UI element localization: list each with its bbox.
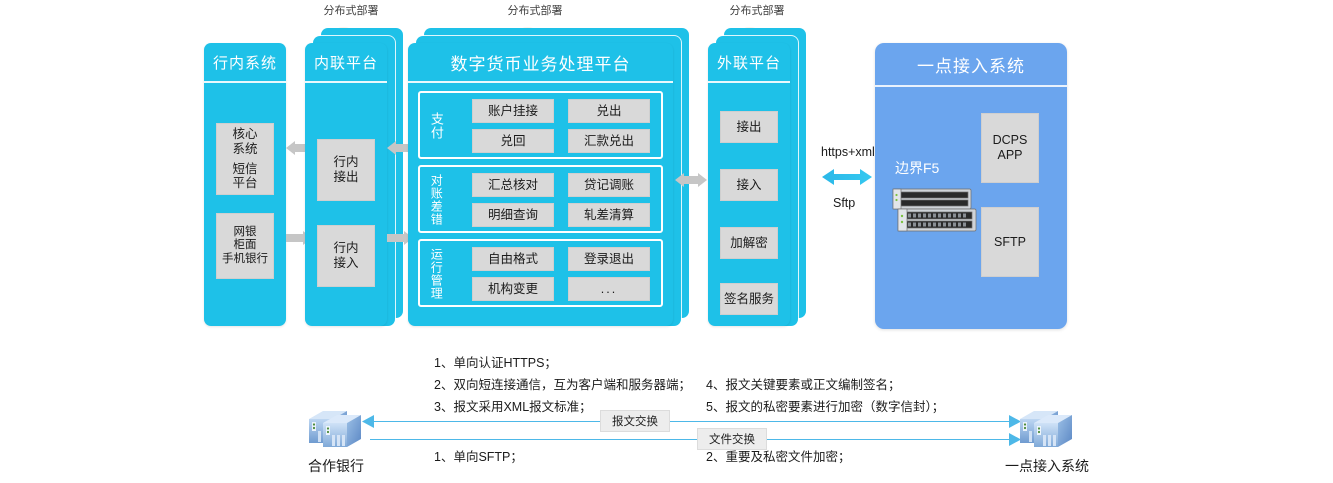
group-label-operation-management: 运行管理 (426, 243, 446, 305)
f5-switch-icon (890, 185, 982, 237)
panel-bank-internal-system[interactable]: 行内系统 核心 系统 短信 平台 网银 柜面 手机银行 (204, 43, 286, 326)
panel-dcep-platform[interactable]: 数字货币业务处理平台 支付 账户挂接 兑出 兑回 汇款兑出 对账差错 汇总核对 … (408, 43, 673, 326)
chip-more[interactable]: ... (568, 277, 650, 301)
chip-sftp[interactable]: SFTP (981, 207, 1039, 277)
note-lower-right-2: 2、重要及私密文件加密； (706, 447, 850, 467)
chip-line: 平台 (232, 176, 257, 191)
group-payment: 支付 账户挂接 兑出 兑回 汇款兑出 (418, 91, 663, 159)
chip-line: 短信 (232, 162, 257, 177)
chip-line: APP (997, 148, 1022, 163)
architecture-diagram: 分布式部署 分布式部署 分布式部署 行内系统 核心 系统 短信 平台 网银 (0, 0, 1333, 483)
chip-dcps-app[interactable]: DCPS APP (981, 113, 1039, 183)
server-icon-partner-bank (303, 405, 367, 451)
chip-line: 接入 (333, 256, 358, 271)
panel-title-dcep-platform: 数字货币业务处理平台 (408, 43, 673, 83)
note-lower-left-1: 1、单向SFTP； (434, 447, 523, 467)
chip-line: 行内 (333, 155, 358, 170)
chip-account-link[interactable]: 账户挂接 (472, 99, 554, 123)
arrow-double-dcep-external (675, 173, 707, 187)
connection-line-message-exchange (370, 421, 1013, 422)
chip-institution-change[interactable]: 机构变更 (472, 277, 554, 301)
chip-line: 手机银行 (222, 253, 268, 267)
note-left-2: 2、双向短连接通信，互为客户端和服务器端； (434, 375, 691, 395)
chip-line: 系统 (232, 142, 257, 157)
chip-intranet-inbound[interactable]: 行内 接入 (317, 225, 375, 287)
note-right-4: 4、报文关键要素或正文编制签名； (706, 375, 900, 395)
chip-exchange-back[interactable]: 兑回 (472, 129, 554, 153)
chip-signature-service[interactable]: 签名服务 (720, 283, 778, 315)
chip-login-logout[interactable]: 登录退出 (568, 247, 650, 271)
chip-core-system[interactable]: 核心 系统 短信 平台 (216, 123, 274, 195)
note-right-5: 5、报文的私密要素进行加密（数字信封）； (706, 397, 944, 417)
panel-title-intranet-platform: 内联平台 (305, 43, 387, 83)
group-operation-management: 运行管理 自由格式 登录退出 机构变更 ... (418, 239, 663, 307)
chip-external-outbound[interactable]: 接出 (720, 111, 778, 143)
chip-line: 网银 (234, 226, 257, 240)
chip-free-format[interactable]: 自由格式 (472, 247, 554, 271)
arrow-double-protocol (822, 168, 872, 186)
protocol-label-sftp: Sftp (833, 196, 855, 210)
panel-title-bank-internal-system: 行内系统 (204, 43, 286, 83)
server-label-single-access-system: 一点接入系统 (996, 456, 1098, 476)
server-icon-single-access-system (1014, 405, 1078, 451)
chip-intranet-outbound[interactable]: 行内 接出 (317, 139, 375, 201)
chip-external-inbound[interactable]: 接入 (720, 169, 778, 201)
chip-remittance-out[interactable]: 汇款兑出 (568, 129, 650, 153)
tag-file-exchange[interactable]: 文件交换 (697, 428, 767, 450)
chip-summary-check[interactable]: 汇总核对 (472, 173, 554, 197)
panel-intranet-platform[interactable]: 内联平台 行内 接出 行内 接入 (305, 43, 387, 326)
panel-title-single-access-system: 一点接入系统 (875, 43, 1067, 87)
chip-line: 柜面 (234, 239, 257, 253)
chip-detail-query[interactable]: 明细查询 (472, 203, 554, 227)
protocol-label-https-xml: https+xml (821, 145, 875, 159)
connection-line-file-exchange (370, 439, 1013, 440)
panel-external-platform[interactable]: 外联平台 接出 接入 加解密 签名服务 (708, 43, 790, 326)
chip-line: 接出 (333, 170, 358, 185)
chip-line: 核心 (232, 127, 257, 142)
note-left-1: 1、单向认证HTTPS； (434, 353, 557, 373)
server-label-partner-bank: 合作银行 (290, 456, 382, 476)
note-left-3: 3、报文采用XML报文标准； (434, 397, 592, 417)
chip-exchange-out[interactable]: 兑出 (568, 99, 650, 123)
label-boundary-f5: 边界F5 (895, 158, 939, 178)
chip-line: DCPS (993, 133, 1028, 148)
chip-line: 行内 (333, 241, 358, 256)
group-label-reconciliation: 对账差错 (426, 169, 446, 231)
group-label-payment: 支付 (426, 97, 446, 155)
chip-credit-adjust[interactable]: 贷记调账 (568, 173, 650, 197)
panel-single-access-system[interactable]: 一点接入系统 边界F5 (875, 43, 1067, 329)
tag-message-exchange[interactable]: 报文交换 (600, 410, 670, 432)
group-reconciliation: 对账差错 汇总核对 贷记调账 明细查询 轧差清算 (418, 165, 663, 233)
chip-encrypt-decrypt[interactable]: 加解密 (720, 227, 778, 259)
panel-title-external-platform: 外联平台 (708, 43, 790, 83)
chip-netting-settlement[interactable]: 轧差清算 (568, 203, 650, 227)
chip-ebank-counter-mobile[interactable]: 网银 柜面 手机银行 (216, 213, 274, 279)
